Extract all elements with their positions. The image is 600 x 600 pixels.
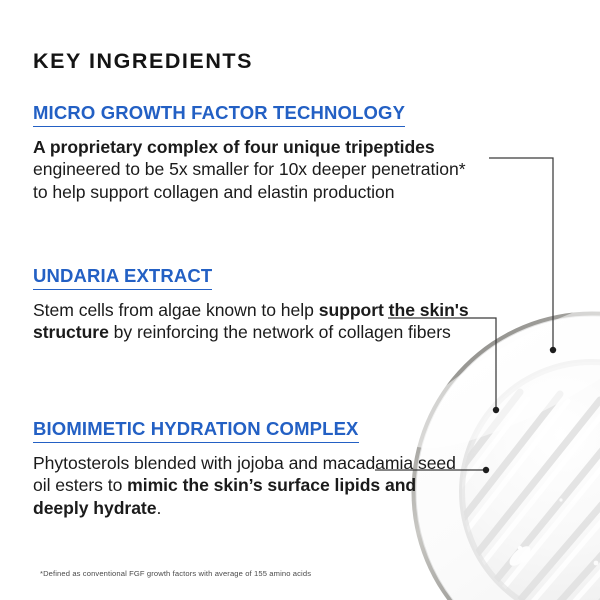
ingredient-section-undaria-extract: UNDARIA EXTRACT Stem cells from algae kn… [33, 266, 473, 344]
page-title: KEY INGREDIENTS [33, 50, 253, 74]
ingredient-body-biomimetic-hydration-complex: Phytosterols blended with jojoba and mac… [33, 452, 473, 520]
ingredient-section-micro-growth-factor-technology: MICRO GROWTH FACTOR TECHNOLOGY A proprie… [33, 103, 473, 204]
ingredient-heading-undaria-extract: UNDARIA EXTRACT [33, 266, 212, 290]
ingredient-heading-biomimetic-hydration-complex: BIOMIMETIC HYDRATION COMPLEX [33, 419, 359, 443]
content-column: KEY INGREDIENTS MICRO GROWTH FACTOR TECH… [0, 0, 600, 600]
ingredient-body-micro-growth-factor-technology: A proprietary complex of four unique tri… [33, 136, 473, 204]
ingredient-body-undaria-extract: Stem cells from algae known to help supp… [33, 299, 473, 344]
ingredient-heading-micro-growth-factor-technology: MICRO GROWTH FACTOR TECHNOLOGY [33, 103, 405, 127]
ingredient-section-biomimetic-hydration-complex: BIOMIMETIC HYDRATION COMPLEX Phytosterol… [33, 419, 473, 520]
footnote-text: *Defined as conventional FGF growth fact… [40, 569, 311, 578]
ingredient-infographic: KEY INGREDIENTS MICRO GROWTH FACTOR TECH… [0, 0, 600, 600]
